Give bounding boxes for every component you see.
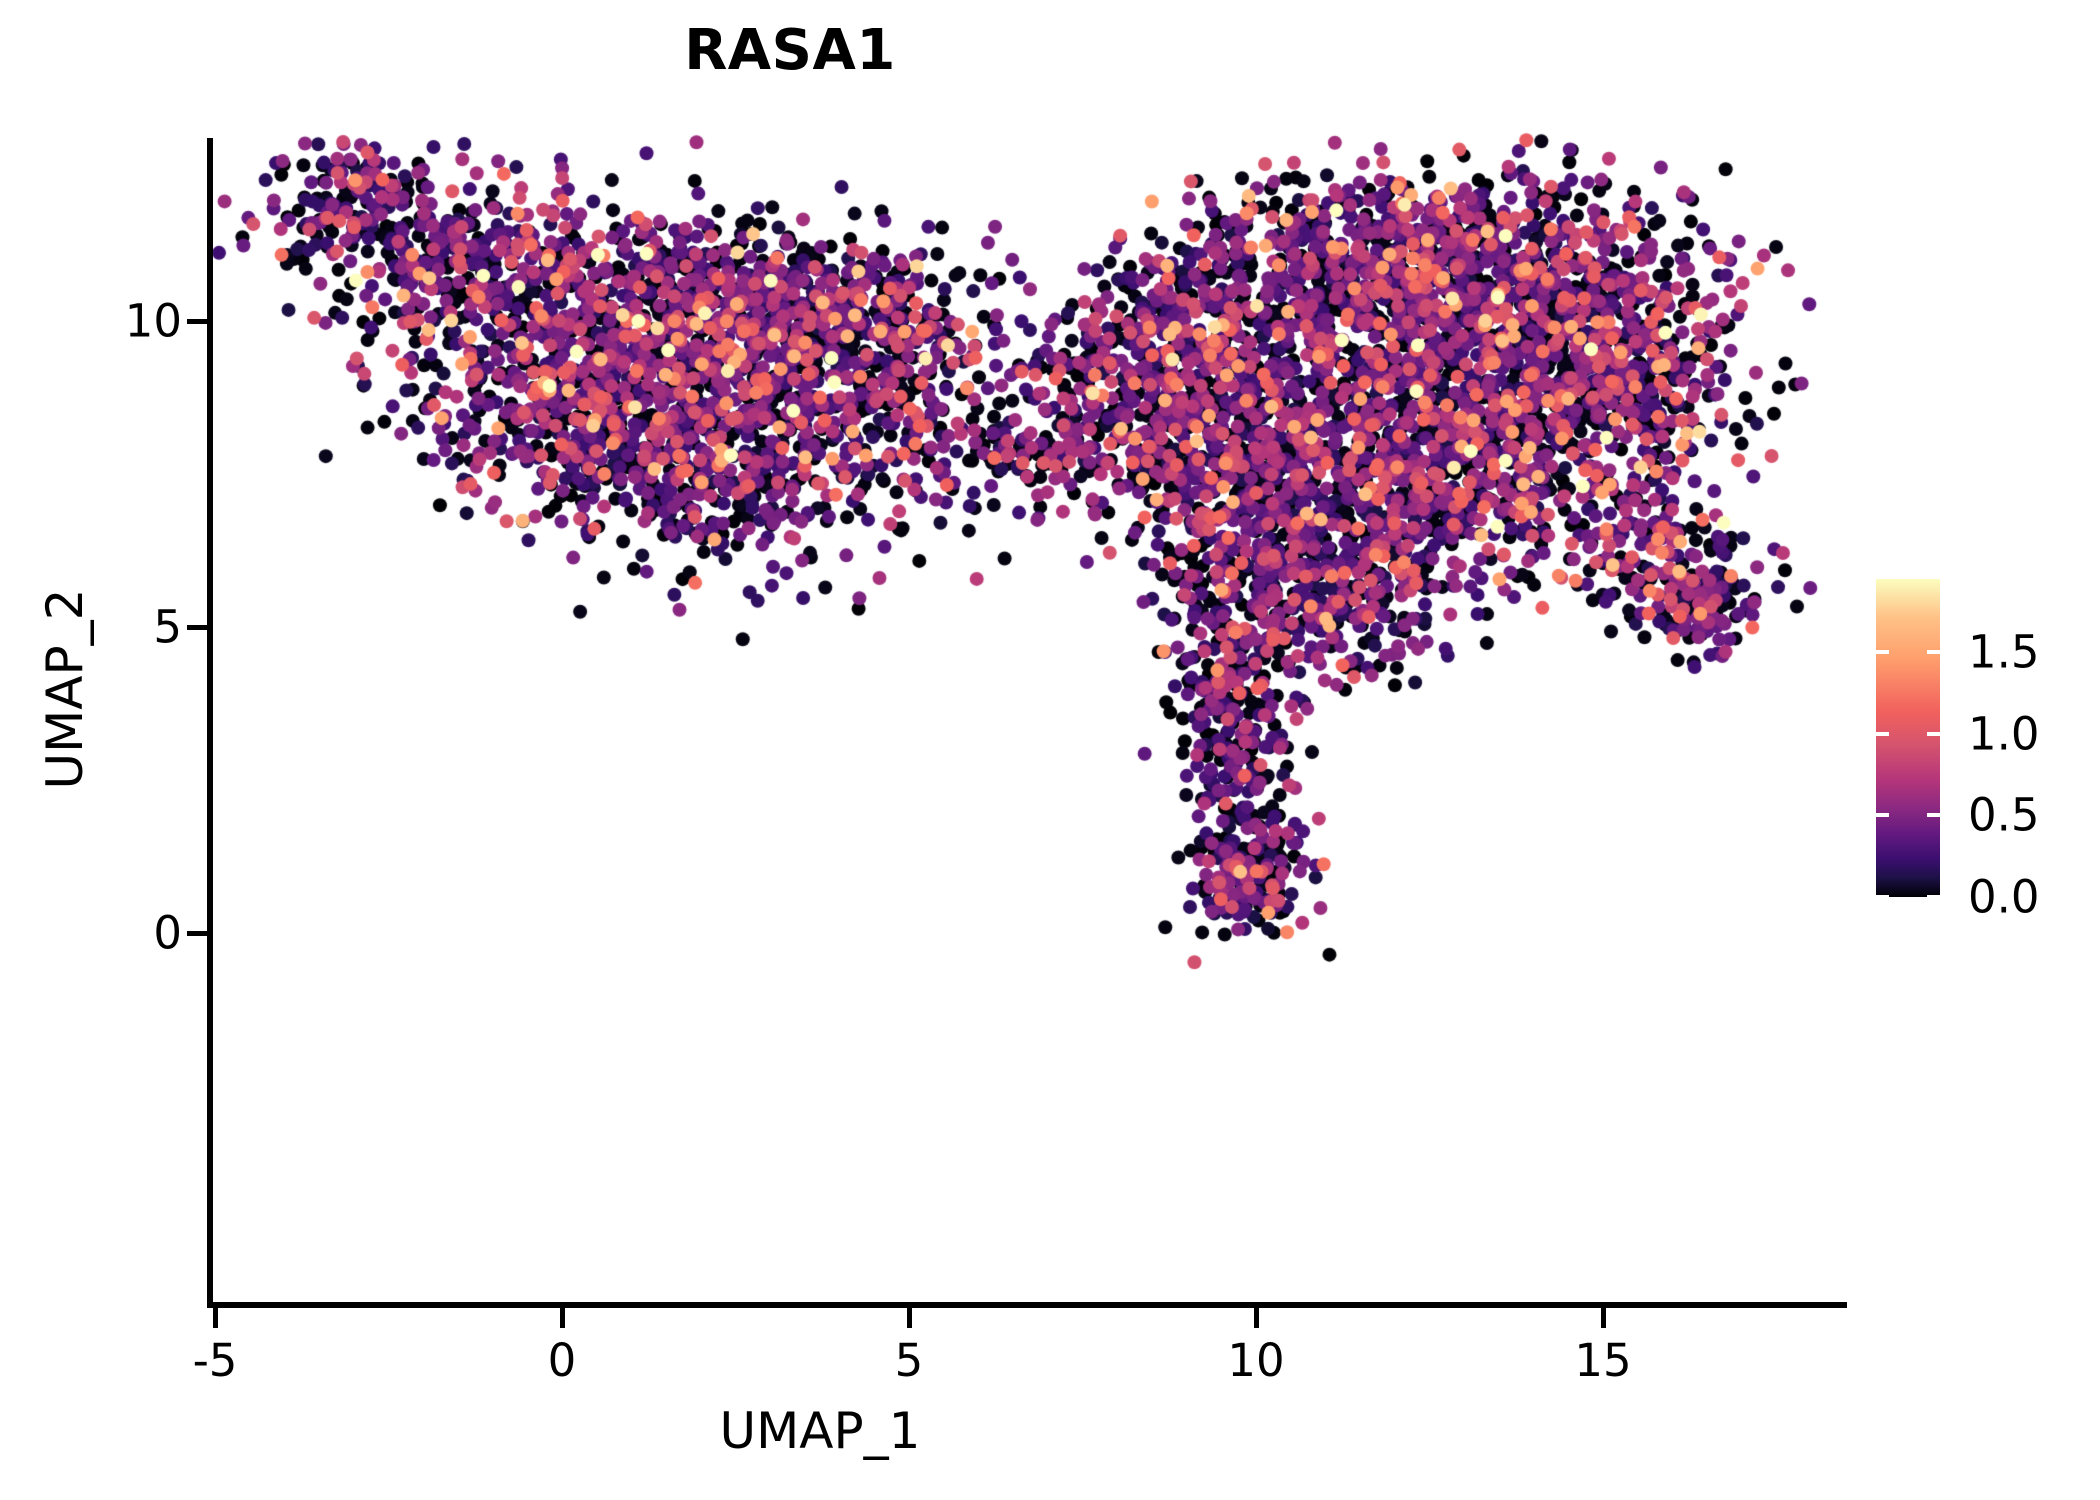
x-tick-mark xyxy=(907,1308,912,1328)
chart-figure: RASA1 -5051015 0510 UMAP_1 UMAP_2 0.00.5… xyxy=(0,0,2100,1500)
colorbar-tick-label: 1.5 xyxy=(1968,626,2040,679)
x-tick-label: -5 xyxy=(193,1334,238,1387)
x-tick-label: 0 xyxy=(548,1334,577,1387)
x-tick-mark xyxy=(1254,1308,1259,1328)
colorbar-tick-label: 0.0 xyxy=(1968,871,2040,924)
y-tick-mark xyxy=(187,319,207,324)
colorbar-tick-mark xyxy=(1927,650,1940,654)
y-tick-label: 0 xyxy=(153,907,182,960)
x-tick-mark xyxy=(1601,1308,1606,1328)
colorbar-tick-mark xyxy=(1876,732,1889,736)
colorbar-tick-label: 1.0 xyxy=(1968,707,2040,760)
colorbar-tick-mark xyxy=(1927,732,1940,736)
y-tick-mark xyxy=(187,625,207,630)
colorbar xyxy=(1876,579,1940,897)
colorbar-tick-mark xyxy=(1876,813,1889,817)
x-axis-label: UMAP_1 xyxy=(0,1402,1640,1460)
colorbar-tick-label: 0.5 xyxy=(1968,789,2040,842)
x-tick-label: 10 xyxy=(1227,1334,1284,1387)
y-axis-label: UMAP_2 xyxy=(36,389,94,989)
x-tick-label: 5 xyxy=(895,1334,924,1387)
colorbar-tick-mark xyxy=(1876,650,1889,654)
x-tick-mark xyxy=(560,1308,565,1328)
y-tick-label: 5 xyxy=(153,601,182,654)
colorbar-tick-mark xyxy=(1876,895,1889,899)
colorbar-tick-mark xyxy=(1927,813,1940,817)
x-tick-mark xyxy=(213,1308,218,1328)
colorbar-tick-mark xyxy=(1927,895,1940,899)
y-tick-mark xyxy=(187,931,207,936)
colorbar-gradient xyxy=(1876,579,1940,897)
y-tick-label: 10 xyxy=(125,295,182,348)
scatter-plot-canvas xyxy=(0,0,2100,1500)
y-axis-spine xyxy=(207,138,213,1308)
x-tick-label: 15 xyxy=(1574,1334,1631,1387)
